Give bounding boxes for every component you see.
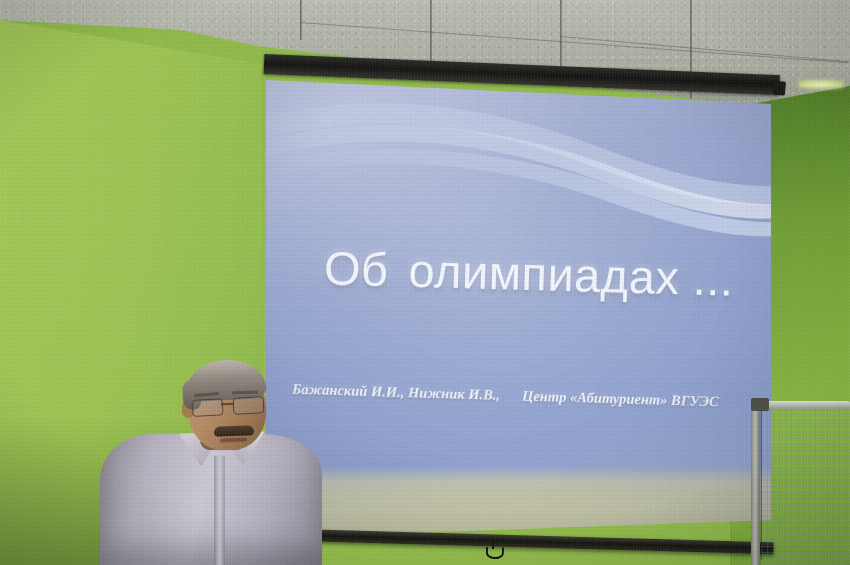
- screen-roller-end-cap: [773, 81, 786, 96]
- presenter-glasses: [192, 396, 267, 416]
- projector-screen[interactable]: Оболимпиадах ... Бажанский И.И., Нижник …: [250, 52, 780, 552]
- room-photo-scene: Оболимпиадах ... Бажанский И.И., Нижник …: [0, 0, 850, 565]
- glasses-lens-right: [233, 396, 265, 415]
- ceiling-tile-seam: [300, 0, 302, 40]
- slide-title: Оболимпиадах ...: [323, 240, 734, 306]
- presenter-shirt: [100, 434, 322, 565]
- slide-subtitle: Бажанский И.И., Нижник И.В.,Центр «Абиту…: [292, 382, 719, 412]
- flipchart-grid-paper: [761, 406, 850, 565]
- projected-slide: Оболимпиадах ... Бажанский И.И., Нижник …: [266, 68, 771, 538]
- slide-subtitle-organization: Центр «Абитуриент» ВГУЭС: [522, 388, 719, 410]
- screen-weight-bar: [262, 528, 774, 554]
- presenter-mustache: [214, 425, 254, 436]
- slide-title-spacer: [388, 286, 408, 287]
- slide-title-word-1: Об: [323, 241, 389, 296]
- flipchart-cord: [761, 410, 762, 560]
- flipchart-clip: [751, 398, 769, 411]
- flipchart-top-rail: [757, 401, 850, 410]
- slide-subtitle-spacer: [500, 400, 522, 401]
- screen-hook: [485, 541, 501, 557]
- presenter-person: [96, 360, 326, 565]
- presenter-shirt-placket: [214, 456, 225, 565]
- slide-ribbon-decoration: [266, 68, 771, 258]
- flipchart[interactable]: [745, 392, 850, 565]
- glasses-lens-left: [192, 398, 224, 417]
- slide-title-word-2: олимпиадах ...: [408, 244, 735, 306]
- flipchart-side-post: [751, 403, 760, 565]
- screen-unlit-area: [266, 466, 771, 538]
- ceiling-light: [798, 80, 844, 89]
